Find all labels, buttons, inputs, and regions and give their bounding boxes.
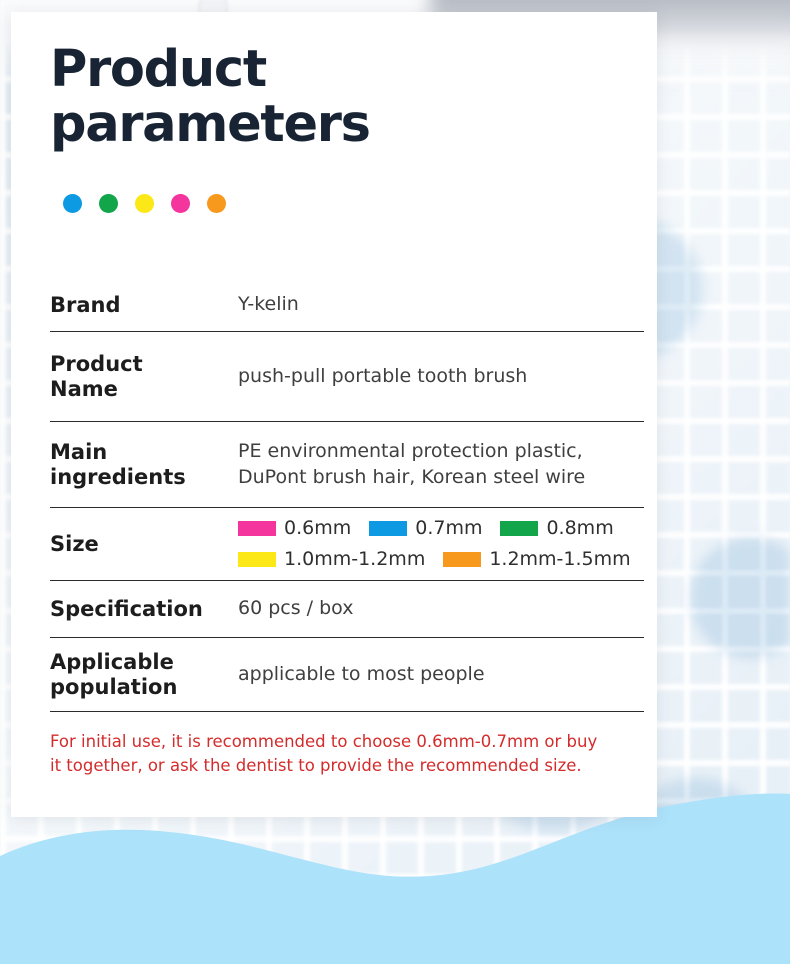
row-value-main-ingredients-line-2: DuPont brush hair, Korean steel wire: [238, 465, 644, 490]
size-option-0-8mm: 0.8mm: [500, 516, 613, 541]
size-option-line-2: 1.0mm-1.2mm 1.2mm-1.5mm: [238, 547, 644, 572]
row-label-product-name: Product Name: [50, 352, 238, 402]
row-value-product-name: push-pull portable tooth brush: [238, 364, 644, 389]
accent-dot-orange: [207, 194, 226, 213]
size-option-0-7mm: 0.7mm: [369, 516, 500, 541]
size-option-0-6mm: 0.6mm: [238, 516, 369, 541]
row-label-applicable-population-line-2: population: [50, 675, 232, 700]
page-title-line-2: parameters: [50, 97, 610, 152]
row-label-product-name-line-2: Name: [50, 377, 232, 402]
product-parameters-page: Product parameters Brand Y-kelin Product…: [0, 0, 790, 964]
row-label-size: Size: [50, 532, 238, 557]
row-value-size: 0.6mm 0.7mm 0.8mm: [238, 516, 644, 571]
table-row-main-ingredients: Main ingredients PE environmental protec…: [50, 422, 644, 508]
row-value-applicable-population: applicable to most people: [238, 662, 644, 687]
recommendation-note: For initial use, it is recommended to ch…: [50, 730, 640, 778]
row-value-main-ingredients: PE environmental protection plastic, DuP…: [238, 439, 644, 489]
row-label-applicable-population: Applicable population: [50, 650, 238, 700]
size-label-0-8mm: 0.8mm: [546, 516, 613, 541]
table-row-brand: Brand Y-kelin: [50, 279, 644, 332]
size-swatch-orange: [443, 552, 481, 567]
row-label-product-name-line-1: Product: [50, 352, 232, 377]
table-row-specification: Specification 60 pcs / box: [50, 581, 644, 638]
row-label-applicable-population-line-1: Applicable: [50, 650, 232, 675]
accent-dot-green: [99, 194, 118, 213]
accent-dot-row: [63, 194, 226, 213]
accent-dot-yellow: [135, 194, 154, 213]
product-parameters-card: Product parameters Brand Y-kelin Product…: [11, 12, 657, 817]
size-option-list: 0.6mm 0.7mm 0.8mm: [238, 516, 644, 571]
table-row-product-name: Product Name push-pull portable tooth br…: [50, 332, 644, 422]
size-label-1-0mm-1-2mm: 1.0mm-1.2mm: [284, 547, 425, 572]
size-swatch-blue: [369, 521, 407, 536]
row-value-brand: Y-kelin: [238, 292, 644, 317]
table-row-applicable-population: Applicable population applicable to most…: [50, 638, 644, 712]
row-value-main-ingredients-line-1: PE environmental protection plastic,: [238, 439, 644, 464]
row-label-main-ingredients-line-1: Main: [50, 440, 232, 465]
page-title-line-1: Product: [50, 42, 610, 97]
row-label-brand: Brand: [50, 293, 238, 318]
size-option-1-0mm-1-2mm: 1.0mm-1.2mm: [238, 547, 443, 572]
size-label-1-2mm-1-5mm: 1.2mm-1.5mm: [489, 547, 630, 572]
page-title: Product parameters: [50, 42, 610, 152]
row-label-main-ingredients: Main ingredients: [50, 440, 238, 490]
size-option-line-1: 0.6mm 0.7mm 0.8mm: [238, 516, 644, 541]
recommendation-note-line-1: For initial use, it is recommended to ch…: [50, 730, 640, 754]
size-swatch-pink: [238, 521, 276, 536]
size-swatch-green: [500, 521, 538, 536]
size-label-0-6mm: 0.6mm: [284, 516, 351, 541]
size-swatch-yellow: [238, 552, 276, 567]
row-value-specification: 60 pcs / box: [238, 596, 644, 621]
accent-dot-pink: [171, 194, 190, 213]
size-option-1-2mm-1-5mm: 1.2mm-1.5mm: [443, 547, 630, 572]
row-label-main-ingredients-line-2: ingredients: [50, 465, 232, 490]
recommendation-note-line-2: it together, or ask the dentist to provi…: [50, 754, 640, 778]
parameters-table: Brand Y-kelin Product Name push-pull por…: [50, 279, 644, 712]
row-label-specification: Specification: [50, 597, 238, 622]
table-row-size: Size 0.6mm 0.7mm: [50, 508, 644, 581]
accent-dot-blue: [63, 194, 82, 213]
size-label-0-7mm: 0.7mm: [415, 516, 482, 541]
